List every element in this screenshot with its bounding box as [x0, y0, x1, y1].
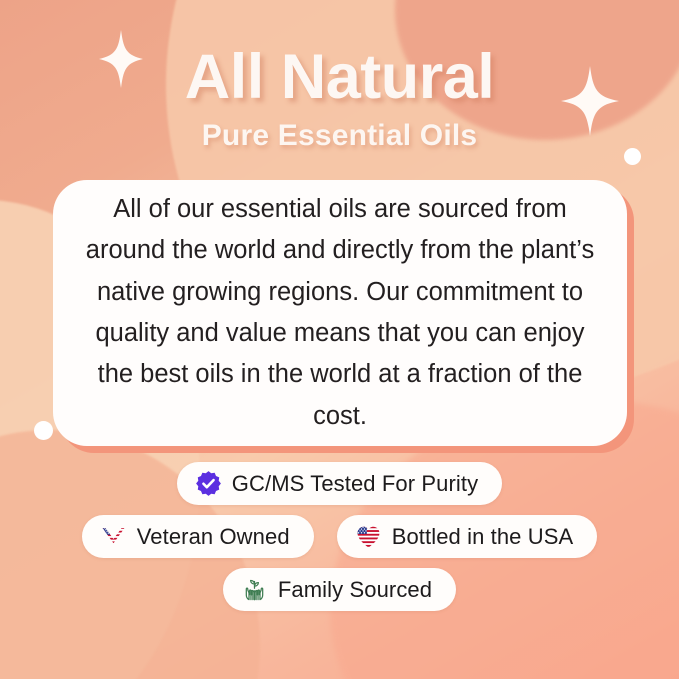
heart-us-flag-icon — [355, 523, 382, 550]
badge-label: Bottled in the USA — [392, 524, 574, 550]
waving-us-flag-icon — [100, 523, 127, 550]
hands-holding-sprout-icon — [241, 576, 268, 603]
badge-label: GC/MS Tested For Purity — [232, 471, 478, 497]
badge-list: GC/MS Tested For Purity — [0, 462, 679, 621]
badge-chip-veteran-owned[interactable]: Veteran Owned — [82, 515, 314, 558]
badge-label: Family Sourced — [278, 577, 432, 603]
badge-chip-bottled-in-usa[interactable]: Bottled in the USA — [337, 515, 598, 558]
card-body-text: All of our essential oils are sourced fr… — [53, 189, 627, 437]
description-card: All of our essential oils are sourced fr… — [53, 180, 627, 446]
badge-row: Veteran Owned — [0, 515, 679, 558]
badge-label: Veteran Owned — [137, 524, 290, 550]
header-block: All Natural Pure Essential Oils — [0, 0, 679, 153]
page-title: All Natural — [0, 0, 679, 111]
badge-row: GC/MS Tested For Purity — [0, 462, 679, 505]
poster-canvas: All Natural Pure Essential Oils All of o… — [0, 0, 679, 679]
page-subtitle: Pure Essential Oils — [0, 111, 679, 153]
badge-chip-family-sourced[interactable]: Family Sourced — [223, 568, 456, 611]
dot-decoration — [34, 421, 53, 440]
badge-row: Family Sourced — [0, 568, 679, 611]
card-surface: All of our essential oils are sourced fr… — [53, 180, 627, 446]
badge-chip-gcms-tested[interactable]: GC/MS Tested For Purity — [177, 462, 502, 505]
verified-badge-icon — [195, 470, 222, 497]
